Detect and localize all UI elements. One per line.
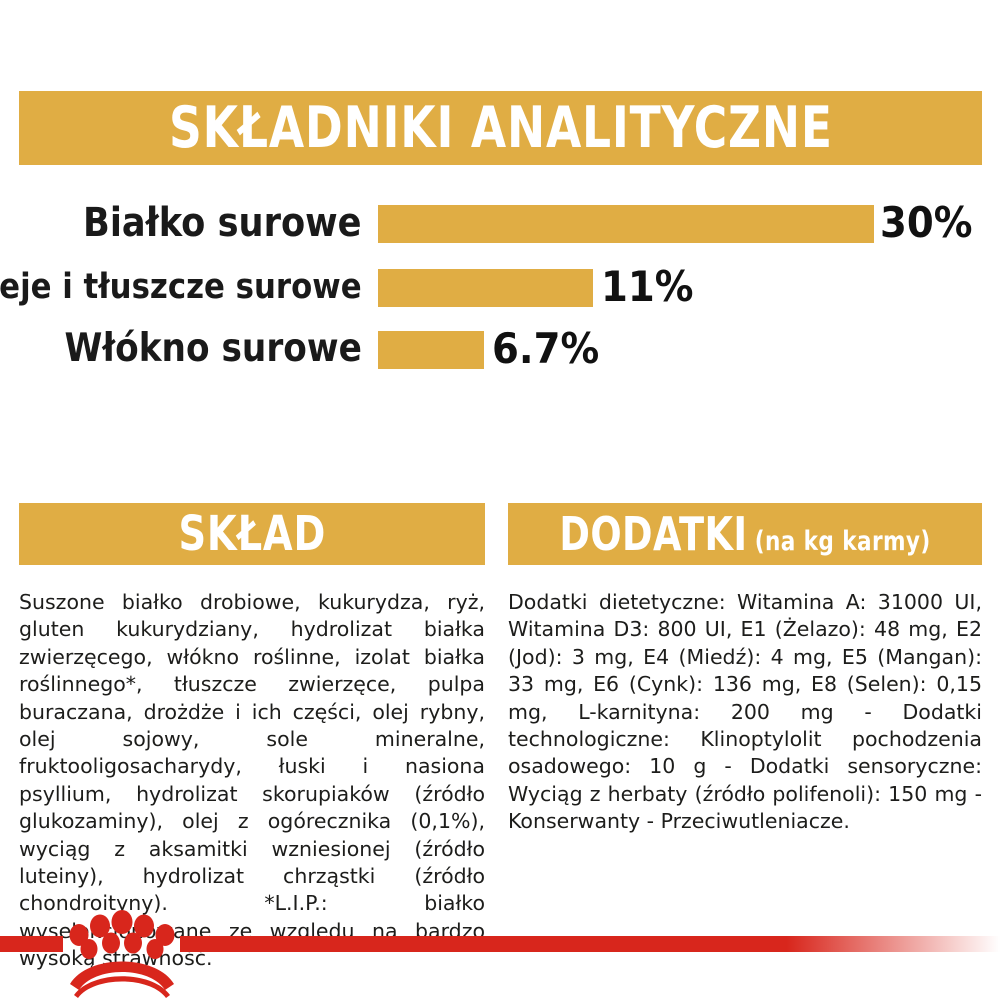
chart-row: Oleje i tłuszcze surowe 11% bbox=[0, 254, 1000, 316]
composition-header: SKŁAD bbox=[19, 503, 485, 565]
additives-title: DODATKI bbox=[559, 511, 747, 557]
chart-row: Włókno surowe 6.7% bbox=[0, 316, 1000, 378]
additives-body-text: Dodatki dietetyczne: Witamina A: 31000 U… bbox=[508, 589, 982, 836]
analytical-constituents-chart: Białko surowe 30% Oleje i tłuszcze surow… bbox=[0, 192, 1000, 377]
chart-row-label: Oleje i tłuszcze surowe bbox=[0, 270, 362, 305]
chart-row-bar bbox=[378, 331, 484, 369]
chart-row-label: Białko surowe bbox=[83, 203, 362, 243]
chart-row-value: 30% bbox=[880, 202, 972, 244]
additives-title-group: DODATKI(na kg karmy) bbox=[559, 511, 930, 557]
chart-row-label: Włókno surowe bbox=[65, 329, 362, 368]
additives-header: DODATKI(na kg karmy) bbox=[508, 503, 982, 565]
chart-row-bar bbox=[378, 205, 874, 243]
composition-title: SKŁAD bbox=[178, 510, 326, 558]
analytical-constituents-title: SKŁADNIKI ANALITYCZNE bbox=[169, 100, 833, 157]
nutrition-panel: SKŁADNIKI ANALITYCZNE Białko surowe 30% … bbox=[0, 0, 1000, 1000]
footer-brand-bar bbox=[0, 900, 1000, 1000]
footer-rule-left bbox=[0, 936, 63, 952]
royal-canin-crown-icon bbox=[62, 900, 182, 1000]
footer-rule-right bbox=[180, 936, 1000, 952]
chart-row-value: 11% bbox=[601, 266, 693, 308]
chart-row: Białko surowe 30% bbox=[0, 192, 1000, 254]
additives-subtitle: (na kg karmy) bbox=[755, 528, 931, 555]
chart-row-bar bbox=[378, 269, 593, 307]
chart-row-value: 6.7% bbox=[492, 328, 599, 370]
analytical-constituents-header: SKŁADNIKI ANALITYCZNE bbox=[19, 91, 982, 165]
